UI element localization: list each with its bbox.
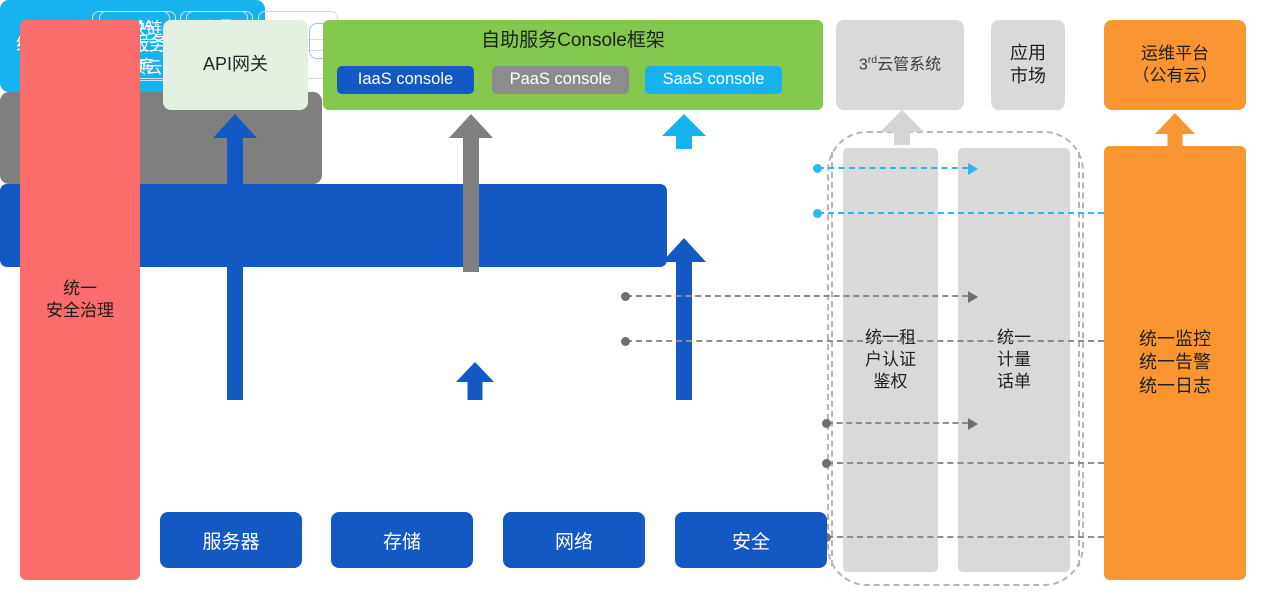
paas-console-chip[interactable]: PaaS console (492, 66, 629, 94)
third-party-cloud-label: 3rd云管系统 (859, 54, 941, 76)
arrow-paas-to-console (449, 114, 493, 272)
third-party-cloud-mgmt-box: 3rd云管系统 (836, 20, 964, 110)
arrow-infra-to-paas (456, 362, 494, 400)
connector-dot (813, 209, 822, 218)
iaas-console-chip[interactable]: IaaS console (337, 66, 474, 94)
connector-saas-to-ops (818, 212, 1104, 214)
container-right-guide (1078, 152, 1080, 566)
connector-infra-to-ops (827, 462, 1104, 464)
arrow-infra-to-api-gateway (213, 114, 257, 400)
resource-box-server[interactable]: 服务器 (160, 512, 302, 568)
console-framework-title: 自助服务Console框架 (323, 29, 823, 53)
connector-infra-to-metering (827, 422, 968, 424)
ops-platform-header-box: 运维平台 （公有云） (1104, 20, 1246, 110)
saas-console-chip[interactable]: SaaS console (645, 66, 782, 94)
connector-arrowhead (968, 291, 978, 303)
connector-dot (822, 459, 831, 468)
resource-box-storage[interactable]: 存储 (331, 512, 473, 568)
connector-dot (621, 337, 630, 346)
arrow-shared-to-third-party-cloud (880, 110, 924, 144)
resource-box-security[interactable]: 安全 (675, 512, 827, 568)
ordinal-superscript: rd (868, 54, 877, 66)
connector-dot (822, 419, 831, 428)
ops-platform-body-box: 统一监控 统一告警 统一日志 (1104, 146, 1246, 580)
connector-arrowhead (968, 163, 978, 175)
console-framework-box: 自助服务Console框架 IaaS console PaaS console … (323, 20, 823, 110)
arrow-ops-body-to-header (1153, 113, 1197, 149)
connector-saas-to-metering (818, 167, 968, 169)
connector-paas-to-ops (626, 340, 1104, 342)
connector-arrowhead (968, 418, 978, 430)
arrow-saas-to-console (662, 114, 706, 148)
container-left-guide (831, 152, 833, 566)
connector-paas-to-metering (626, 295, 968, 297)
arrow-infra-to-saas (662, 238, 706, 400)
security-governance-pillar: 统一 安全治理 (20, 20, 140, 580)
connector-resources-to-ops (827, 536, 1104, 538)
application-market-box: 应用 市场 (991, 20, 1065, 110)
connector-dot (621, 292, 630, 301)
api-gateway-box: API网关 (163, 20, 308, 110)
architecture-diagram: 统一 安全治理 API网关 自助服务Console框架 IaaS console… (0, 0, 1265, 605)
connector-dot (813, 164, 822, 173)
resource-box-network[interactable]: 网络 (503, 512, 645, 568)
